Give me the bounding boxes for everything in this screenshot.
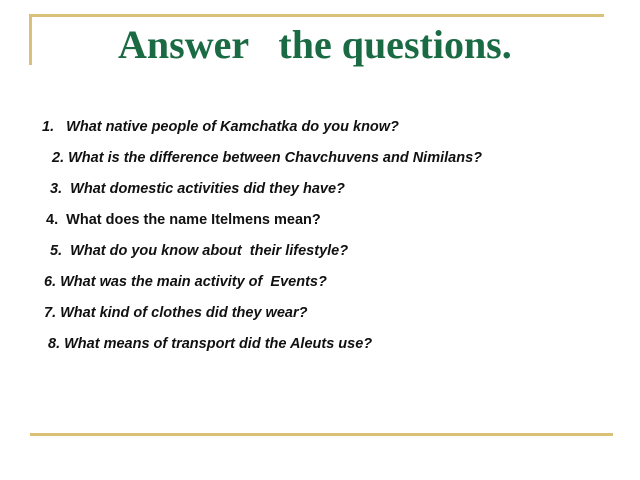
question-item-5: 5. What do you know about their lifestyl… [0, 236, 640, 267]
question-item-1: 1. What native people of Kamchatka do yo… [0, 112, 640, 143]
question-item-8: 8. What means of transport did the Aleut… [0, 329, 640, 360]
question-item-2: 2. What is the difference between Chavch… [0, 143, 640, 174]
question-item-6: 6. What was the main activity of Events? [0, 267, 640, 298]
slide-title: Answer the questions. [22, 22, 622, 68]
question-item-4: 4. What does the name Itelmens mean? [0, 205, 640, 236]
question-item-7: 7. What kind of clothes did they wear? [0, 298, 640, 329]
question-list: 1. What native people of Kamchatka do yo… [0, 112, 640, 360]
question-item-3: 3. What domestic activities did they hav… [0, 174, 640, 205]
slide-canvas: Answer the questions. 1. What native peo… [0, 0, 640, 480]
frame-top-rule [29, 14, 604, 17]
frame-bottom-rule [30, 433, 613, 436]
